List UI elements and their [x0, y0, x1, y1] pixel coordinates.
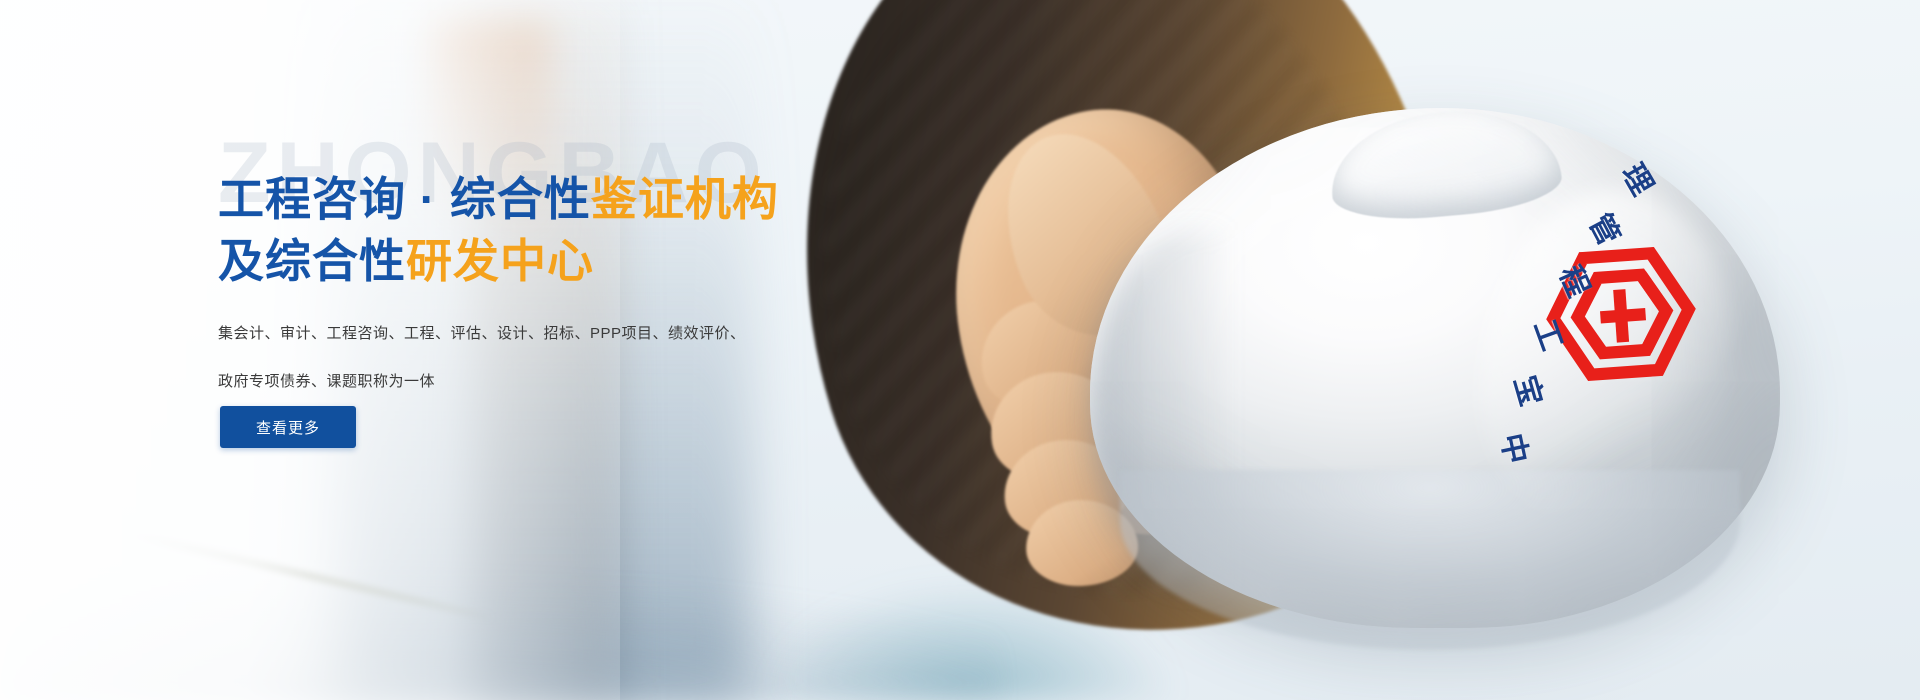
- helmet-brand-char: 理: [1613, 154, 1666, 202]
- helmet-brand-char: 中: [1492, 429, 1541, 467]
- description-line-2: 政府专项债券、课题职称为一体: [218, 358, 818, 406]
- banner-content: ZHONGBAO 工程咨询 · 综合性鉴证机构 及综合性研发中心 集会计、审计、…: [0, 0, 900, 700]
- headline-line-1: 工程咨询 · 综合性鉴证机构: [218, 168, 858, 230]
- helmet-brand-char: 程: [1551, 257, 1603, 302]
- headline-line-2: 及综合性研发中心: [218, 230, 858, 292]
- headline-line-1-blue: 工程咨询 · 综合性: [218, 173, 591, 225]
- hero-banner: 理 管 程 工 宝 中 ZHONGBAO 工程咨询 · 综合性鉴证机构 及综合性…: [0, 0, 1920, 700]
- headline: 工程咨询 · 综合性鉴证机构 及综合性研发中心: [218, 168, 858, 292]
- headline-line-2-blue: 及综合性: [218, 235, 406, 287]
- headline-line-2-orange: 研发中心: [406, 235, 594, 287]
- description-line-1: 集会计、审计、工程咨询、工程、评估、设计、招标、PPP项目、绩效评价、: [218, 310, 818, 358]
- helmet-brand-text: 理 管 程 工 宝 中: [1440, 150, 1740, 480]
- helmet-brand-char: 管: [1581, 204, 1634, 251]
- helmet-brand-char: 工: [1525, 312, 1577, 355]
- view-more-button[interactable]: 查看更多: [220, 406, 356, 448]
- headline-line-1-orange: 鉴证机构: [591, 173, 779, 225]
- helmet-brand-char: 宝: [1506, 370, 1557, 411]
- description: 集会计、审计、工程咨询、工程、评估、设计、招标、PPP项目、绩效评价、 政府专项…: [218, 310, 818, 406]
